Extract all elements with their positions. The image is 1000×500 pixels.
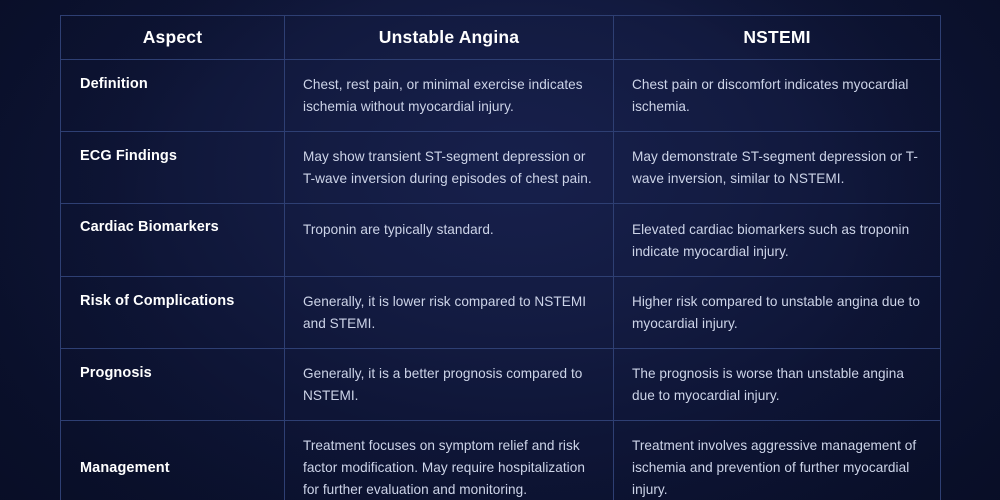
table-row: Risk of Complications Generally, it is l… xyxy=(61,277,941,349)
cell-management-unstable-angina: Treatment focuses on symptom relief and … xyxy=(285,421,614,500)
row-label-ecg-findings: ECG Findings xyxy=(61,132,285,204)
table-header: Aspect Unstable Angina NSTEMI xyxy=(61,16,941,60)
column-header-aspect: Aspect xyxy=(61,16,285,60)
cell-ecg-findings-nstemi: May demonstrate ST-segment depression or… xyxy=(614,132,941,204)
column-header-unstable-angina: Unstable Angina xyxy=(285,16,614,60)
table-row: Cardiac Biomarkers Troponin are typicall… xyxy=(61,204,941,277)
comparison-table-page: Aspect Unstable Angina NSTEMI Definition… xyxy=(0,0,1000,500)
cell-risk-of-complications-nstemi: Higher risk compared to unstable angina … xyxy=(614,277,941,349)
cell-ecg-findings-unstable-angina: May show transient ST-segment depression… xyxy=(285,132,614,204)
cell-definition-unstable-angina: Chest, rest pain, or minimal exercise in… xyxy=(285,60,614,132)
row-label-cardiac-biomarkers: Cardiac Biomarkers xyxy=(61,204,285,277)
cell-cardiac-biomarkers-unstable-angina: Troponin are typically standard. xyxy=(285,204,614,277)
cell-management-nstemi: Treatment involves aggressive management… xyxy=(614,421,941,500)
column-header-nstemi: NSTEMI xyxy=(614,16,941,60)
comparison-table: Aspect Unstable Angina NSTEMI Definition… xyxy=(60,15,941,500)
row-label-prognosis: Prognosis xyxy=(61,349,285,421)
cell-prognosis-nstemi: The prognosis is worse than unstable ang… xyxy=(614,349,941,421)
table-row: ECG Findings May show transient ST-segme… xyxy=(61,132,941,204)
table-body: Definition Chest, rest pain, or minimal … xyxy=(61,60,941,500)
row-label-definition: Definition xyxy=(61,60,285,132)
cell-cardiac-biomarkers-nstemi: Elevated cardiac biomarkers such as trop… xyxy=(614,204,941,277)
row-label-management: Management xyxy=(61,421,285,500)
cell-definition-nstemi: Chest pain or discomfort indicates myoca… xyxy=(614,60,941,132)
table-header-row: Aspect Unstable Angina NSTEMI xyxy=(61,16,941,60)
cell-prognosis-unstable-angina: Generally, it is a better prognosis comp… xyxy=(285,349,614,421)
table-container: Aspect Unstable Angina NSTEMI Definition… xyxy=(60,15,940,482)
row-label-risk-of-complications: Risk of Complications xyxy=(61,277,285,349)
cell-risk-of-complications-unstable-angina: Generally, it is lower risk compared to … xyxy=(285,277,614,349)
table-row: Prognosis Generally, it is a better prog… xyxy=(61,349,941,421)
table-row: Definition Chest, rest pain, or minimal … xyxy=(61,60,941,132)
table-row: Management Treatment focuses on symptom … xyxy=(61,421,941,500)
